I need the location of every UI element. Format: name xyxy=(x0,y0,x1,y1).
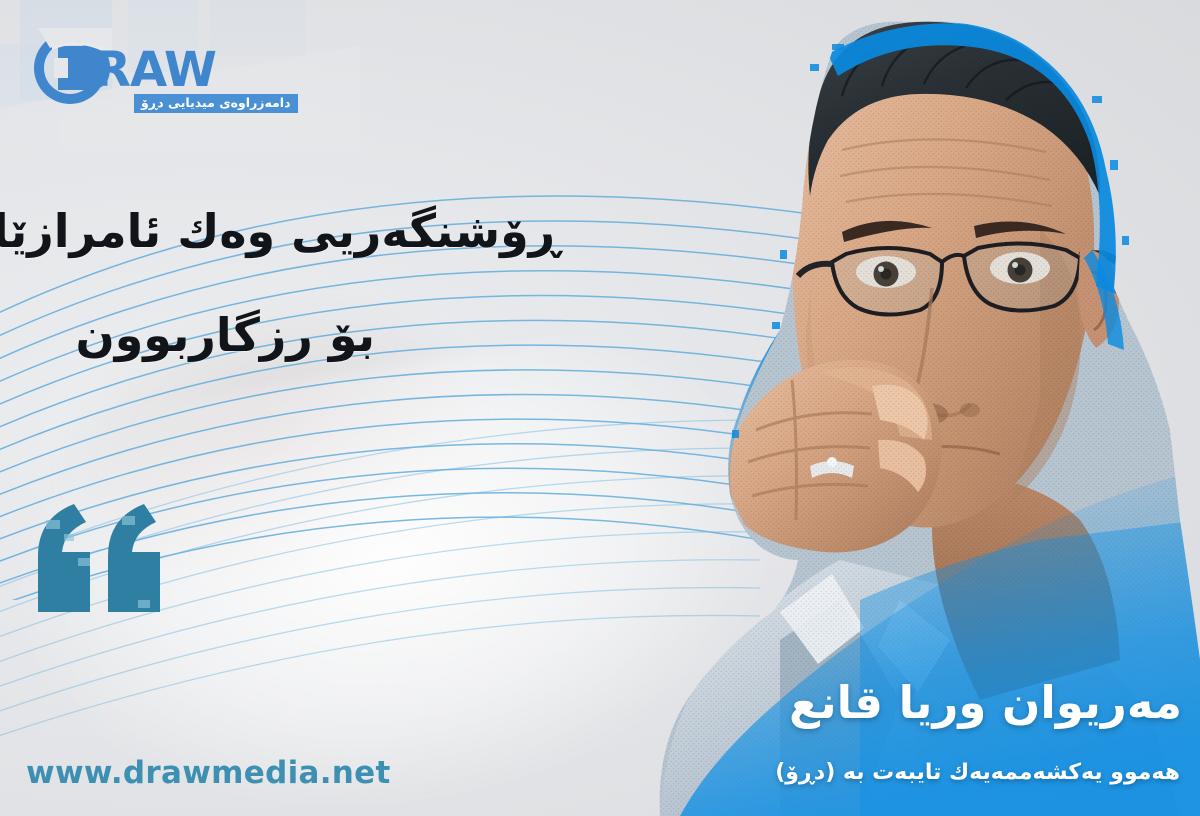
speaker-subtitle: هەموو یەکشەممەیەك تایبەت بە (دڕۆ) xyxy=(775,760,1180,785)
logo-tagline: دامەزراوەی میدیایی دڕۆ xyxy=(134,94,298,113)
website-url[interactable]: www.drawmedia.net xyxy=(26,755,391,791)
logo-wordmark: RAW xyxy=(94,42,216,98)
brand-logo[interactable]: RAW دامەزراوەی میدیایی دڕۆ xyxy=(28,26,308,108)
speaker-name: مەریوان وریا قانع xyxy=(789,676,1182,729)
quote-card: ڕۆشنگەریی وەك ئامرازێك بۆ رزگاربوون RAW … xyxy=(0,0,1200,816)
quotation-mark-icon xyxy=(30,500,175,620)
quote-headline: ڕۆشنگەریی وەك ئامرازێك بۆ رزگاربوون xyxy=(0,208,560,358)
quote-line-2: بۆ رزگاربوون xyxy=(0,312,560,358)
quote-line-1: ڕۆشنگەریی وەك ئامرازێك xyxy=(0,204,560,258)
